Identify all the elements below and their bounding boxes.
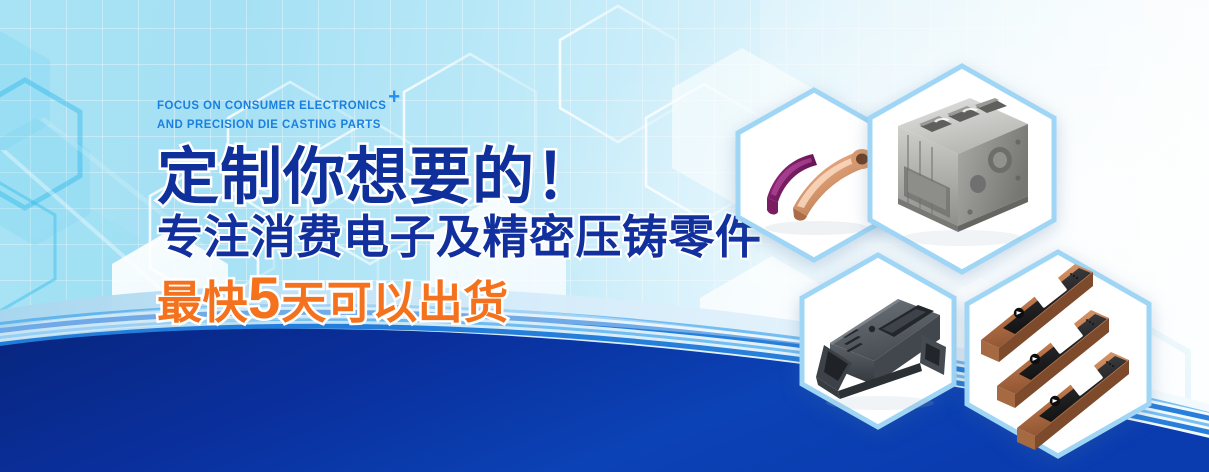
hex-tile-copper-frames[interactable] <box>959 248 1157 460</box>
tagline-delivery: 最快5天可以出货 <box>157 273 797 329</box>
headline-copy-block: FOCUS ON CONSUMER ELECTRONICS+ AND PRECI… <box>157 96 797 329</box>
eyebrow-text-1: FOCUS ON CONSUMER ELECTRONICS <box>157 98 386 112</box>
eyebrow-line-2: AND PRECISION DIE CASTING PARTS <box>157 115 746 134</box>
tagline-suffix: 天可以出货 <box>281 277 509 328</box>
eyebrow-line-1: FOCUS ON CONSUMER ELECTRONICS+ <box>157 96 746 115</box>
tagline-prefix: 最快 <box>157 277 248 328</box>
hex-tile-housing-bracket[interactable] <box>794 251 962 431</box>
plus-icon: + <box>388 84 400 109</box>
headline-primary: 定制你想要的！ <box>157 146 797 210</box>
hero-banner: FOCUS ON CONSUMER ELECTRONICS+ AND PRECI… <box>0 0 1209 472</box>
hex-tile-engine-block[interactable] <box>862 62 1062 276</box>
tagline-number: 5 <box>248 266 281 331</box>
headline-secondary: 专注消费电子及精密压铸零件 <box>157 212 797 262</box>
